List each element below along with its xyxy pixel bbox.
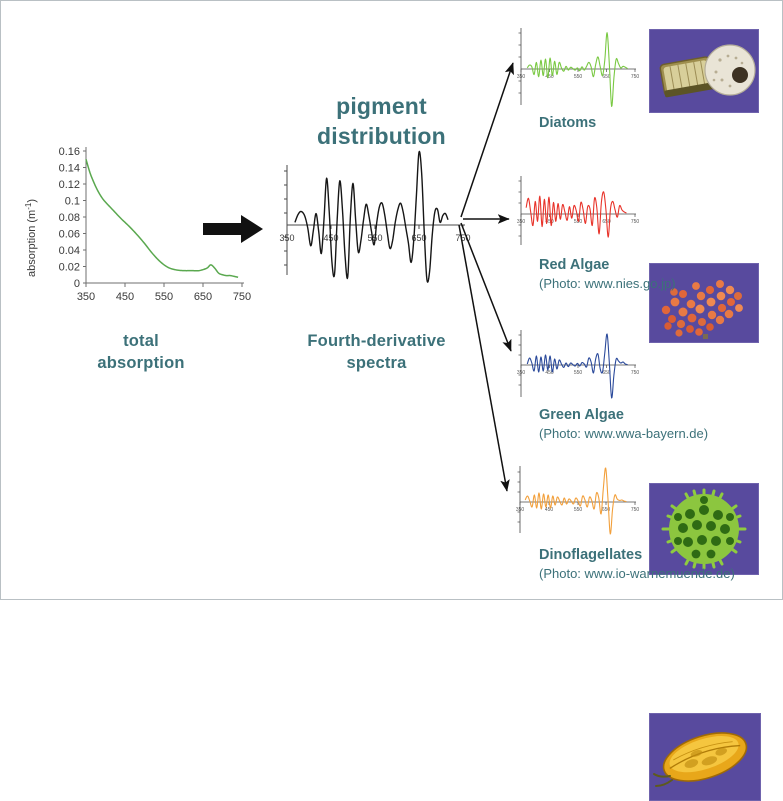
diatoms-spectrum-chart: 350 450 550 650 750 (509, 25, 639, 113)
svg-text:350: 350 (517, 219, 526, 225)
svg-text:0.1: 0.1 (65, 196, 80, 208)
derivative-data-line (295, 151, 448, 282)
svg-text:750: 750 (233, 291, 251, 303)
diatoms-plot-svg: 350 450 550 650 750 (509, 25, 639, 113)
dinoflagellates-photo-credit: (Photo: www.io-warnemuende.de) (539, 565, 783, 583)
svg-text:750: 750 (631, 219, 640, 225)
green-algae-photo-credit: (Photo: www.wwa-bayern.de) (539, 425, 779, 443)
svg-text:350: 350 (517, 74, 526, 80)
absorption-x-tickmarks (86, 283, 242, 287)
svg-text:450: 450 (545, 507, 554, 513)
svg-text:0.12: 0.12 (59, 179, 80, 191)
dinoflagellates-spectrum-chart: 350 450 550 650 750 (506, 463, 639, 539)
green-algae-label: Green Algae (539, 406, 779, 425)
svg-text:350: 350 (77, 291, 95, 303)
dinoflagellates-plot-svg: 350 450 550 650 750 (506, 463, 639, 539)
caption-line-2: spectra (279, 353, 474, 375)
green-algae-x-ticklabels: 350 450 550 650 750 (517, 370, 640, 376)
pigment-distribution-title: pigment distribution (289, 91, 474, 152)
svg-text:350: 350 (517, 370, 526, 376)
dinoflagellate-photo (649, 713, 761, 801)
process-arrow-thick (201, 209, 267, 249)
svg-text:0.06: 0.06 (59, 229, 80, 241)
red-algae-data-line (526, 192, 626, 237)
caption-line-2: absorption (41, 353, 241, 375)
green-algae-data-line (527, 334, 627, 398)
absorption-x-ticklabels: 350 450 550 650 750 (77, 291, 251, 303)
arrow-to-green-algae (461, 223, 511, 351)
svg-text:550: 550 (574, 74, 583, 80)
diatoms-x-ticklabels: 350 450 550 650 750 (517, 74, 640, 80)
diatom-photo (649, 29, 759, 113)
absorption-y-ticks: 0.16 0.14 0.12 0.1 0.08 0.06 0.04 0.02 0 (59, 146, 80, 290)
fourth-derivative-chart: 350 450 550 650 750 (269, 163, 469, 288)
red-algae-plot-svg: 350 450 550 650 750 (509, 173, 639, 253)
svg-text:absorption (m-1): absorption (m-1) (24, 199, 38, 277)
svg-text:0.08: 0.08 (59, 212, 80, 224)
svg-text:750: 750 (631, 370, 640, 376)
svg-text:0.14: 0.14 (59, 163, 80, 175)
derivative-plot-svg: 350 450 550 650 750 (269, 163, 469, 288)
dinoflagellates-x-ticklabels: 350 450 550 650 750 (516, 507, 640, 513)
svg-text:0.04: 0.04 (59, 245, 80, 257)
title-line-1: pigment (289, 91, 474, 121)
absorption-y-axis-label: absorption (m-1) (24, 199, 38, 277)
diatom-disc (705, 45, 755, 95)
caption-line-1: Fourth-derivative (279, 331, 474, 353)
arrow-to-diatoms (461, 63, 513, 217)
caption-line-1: total (41, 331, 241, 353)
red-algae-photo-credit: (Photo: www.nies.go.jp) (539, 275, 769, 293)
svg-text:550: 550 (574, 507, 583, 513)
arrow-right-icon (203, 215, 263, 243)
red-algae-caption: Red Algae (Photo: www.nies.go.jp) (539, 256, 769, 292)
svg-text:0: 0 (74, 278, 80, 290)
red-algae-label: Red Algae (539, 256, 769, 275)
dinoflagellates-data-line (525, 468, 626, 534)
red-algae-spectrum-chart: 350 450 550 650 750 (509, 173, 639, 253)
svg-text:750: 750 (631, 74, 640, 80)
svg-text:450: 450 (116, 291, 134, 303)
green-algae-plot-svg: 350 450 550 650 750 (509, 327, 639, 403)
dinoflagellates-caption: Dinoflagellates (Photo: www.io-warnemuen… (539, 546, 783, 582)
svg-text:650: 650 (194, 291, 212, 303)
title-line-2: distribution (289, 121, 474, 151)
svg-text:0.16: 0.16 (59, 146, 80, 158)
svg-text:0.02: 0.02 (59, 262, 80, 274)
green-algae-spectrum-chart: 350 450 550 650 750 (509, 327, 639, 403)
diatoms-data-line (527, 33, 627, 107)
svg-text:550: 550 (574, 370, 583, 376)
svg-text:350: 350 (279, 233, 294, 243)
fourth-derivative-caption: Fourth-derivative spectra (279, 331, 474, 375)
figure-container: absorption (m-1) 0.16 0.14 0.12 0.1 0.08… (0, 0, 783, 600)
svg-text:350: 350 (516, 507, 525, 513)
arrow-to-dinoflagellates (459, 225, 507, 491)
svg-text:550: 550 (155, 291, 173, 303)
green-algae-caption: Green Algae (Photo: www.wwa-bayern.de) (539, 406, 779, 442)
svg-text:750: 750 (631, 507, 640, 513)
diatoms-caption: Diatoms (539, 114, 759, 133)
total-absorption-caption: total absorption (41, 331, 241, 375)
diatoms-label: Diatoms (539, 114, 759, 133)
dinoflagellates-label: Dinoflagellates (539, 546, 783, 565)
